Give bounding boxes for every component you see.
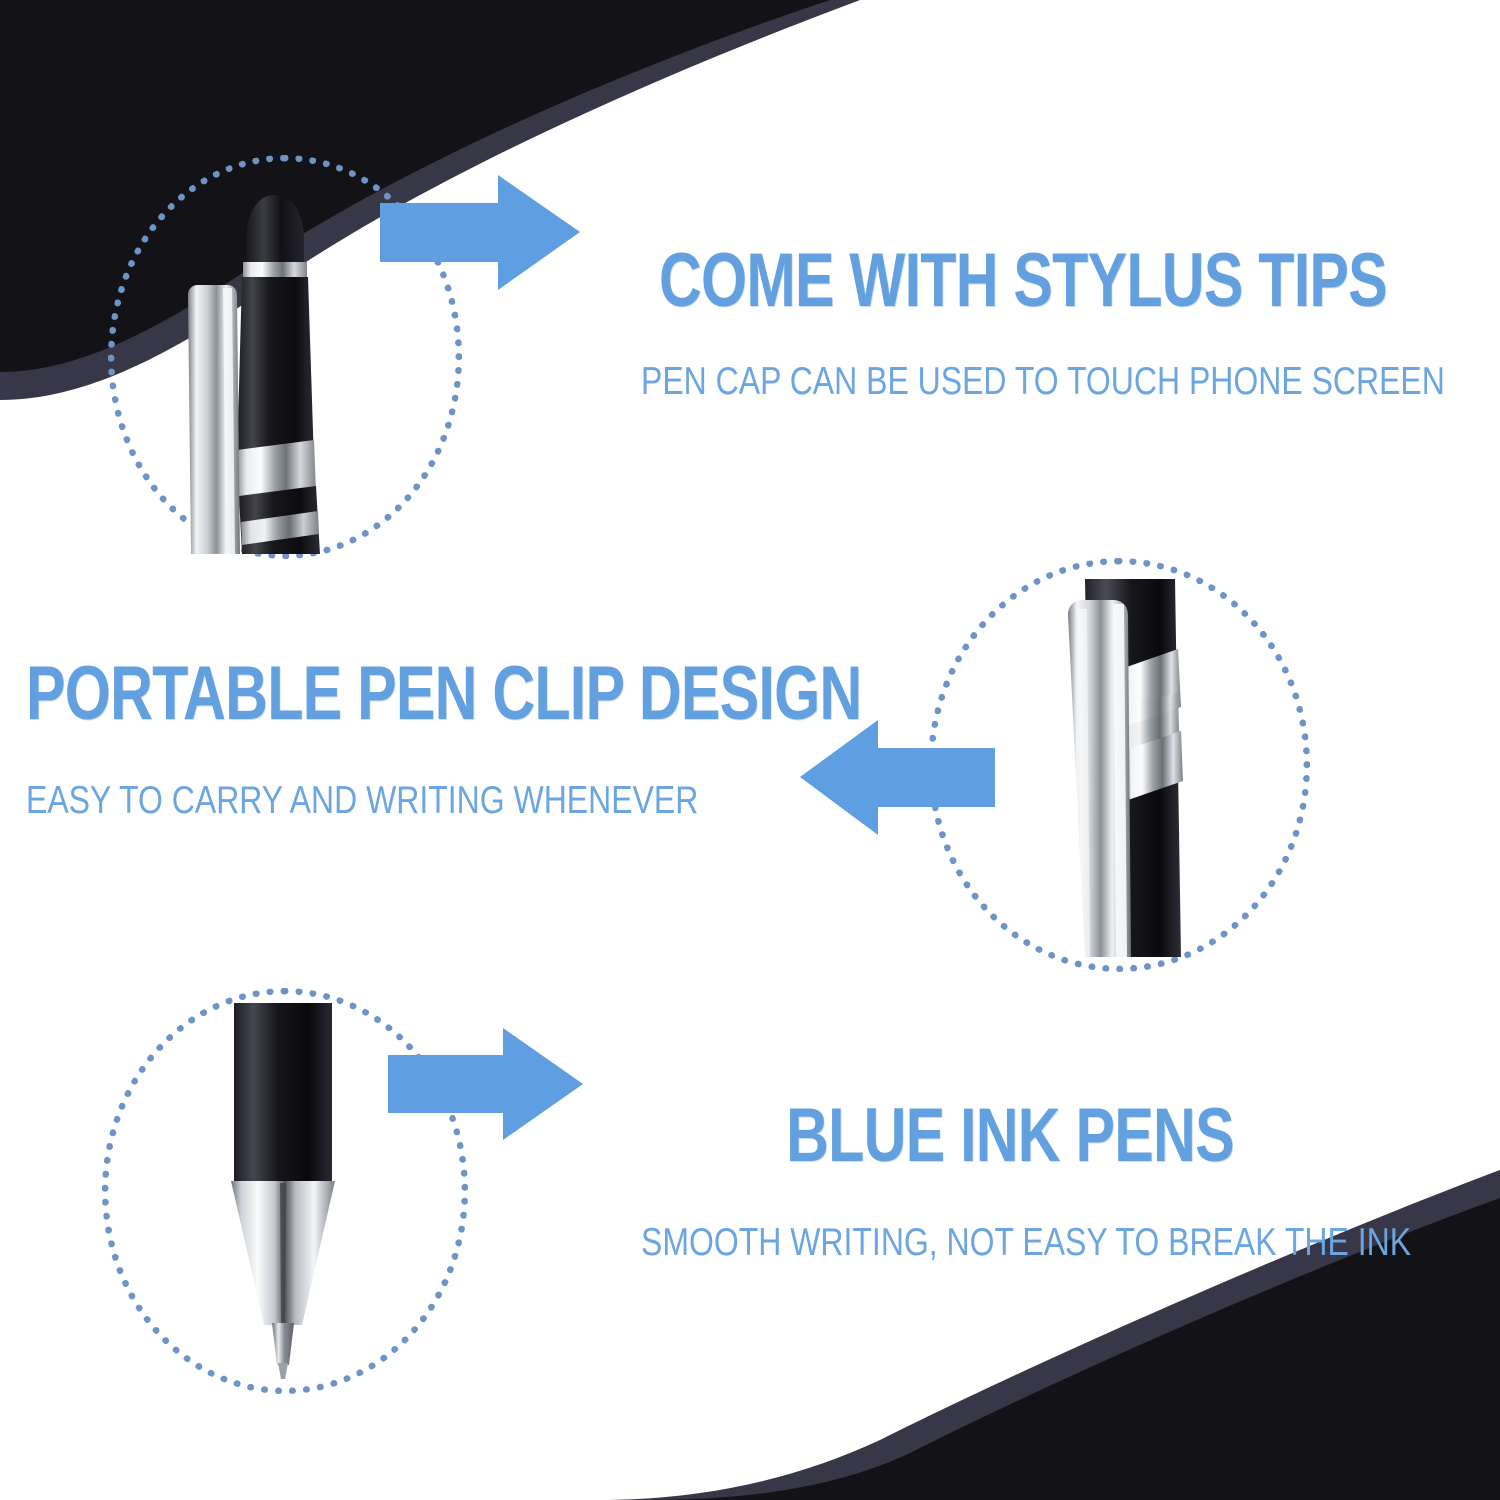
text-block-stylus: COME WITH STYLUS TIPS PEN CAP CAN BE USE… xyxy=(560,245,1460,401)
feature-heading-clip: PORTABLE PEN CLIP DESIGN xyxy=(26,658,697,731)
feature-section-clip: PORTABLE PEN CLIP DESIGN EASY TO CARRY A… xyxy=(0,540,1500,960)
feature-subtitle-clip: EASY TO CARRY AND WRITING WHENEVER xyxy=(26,781,731,820)
feature-section-stylus: COME WITH STYLUS TIPS PEN CAP CAN BE USE… xyxy=(0,130,1500,570)
feature-section-ink: BLUE INK PENS SMOOTH WRITING, NOT EASY T… xyxy=(0,960,1500,1400)
feature-heading-stylus: COME WITH STYLUS TIPS xyxy=(659,245,1361,318)
feature-subtitle-ink: SMOOTH WRITING, NOT EASY TO BREAK THE IN… xyxy=(641,1223,1379,1262)
arrow-right-icon xyxy=(380,175,580,290)
feature-heading-ink: BLUE INK PENS xyxy=(659,1100,1361,1173)
arrow-right-icon xyxy=(388,1028,583,1140)
text-block-ink: BLUE INK PENS SMOOTH WRITING, NOT EASY T… xyxy=(560,1100,1460,1262)
feature-subtitle-stylus: PEN CAP CAN BE USED TO TOUCH PHONE SCREE… xyxy=(641,362,1379,401)
infographic-canvas: COME WITH STYLUS TIPS PEN CAP CAN BE USE… xyxy=(0,0,1500,1500)
text-block-clip: PORTABLE PEN CLIP DESIGN EASY TO CARRY A… xyxy=(26,658,886,820)
